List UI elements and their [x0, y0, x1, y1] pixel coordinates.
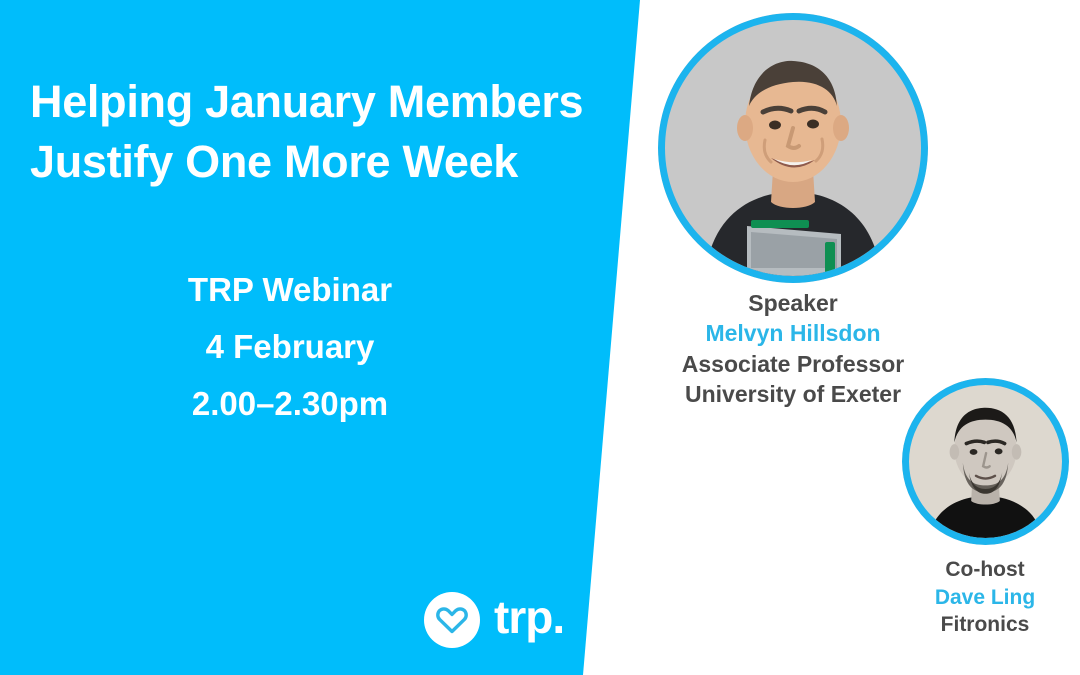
heart-icon [424, 592, 480, 648]
event-details: TRP Webinar 4 February 2.00–2.30pm [0, 262, 580, 432]
event-time: 2.00–2.30pm [0, 376, 580, 433]
event-date: 4 February [0, 319, 580, 376]
trp-logo: trp. [424, 592, 564, 648]
cohost-photo-image [909, 385, 1062, 538]
page-title: Helping January Members Justify One More… [30, 72, 630, 192]
cohost-avatar [902, 378, 1069, 545]
cohost-caption: Co-host Dave Ling Fitronics [885, 556, 1080, 639]
headline-line-2: Justify One More Week [30, 132, 630, 192]
speaker-photo-image [665, 20, 921, 276]
headline-line-1: Helping January Members [30, 72, 630, 132]
speaker-name: Melvyn Hillsdon [628, 318, 958, 348]
cohost-name: Dave Ling [885, 584, 1080, 612]
cohost-role: Co-host [885, 556, 1080, 584]
speaker-avatar [658, 13, 928, 283]
speaker-title: Associate Professor [628, 349, 958, 379]
speaker-role: Speaker [628, 288, 958, 318]
event-name: TRP Webinar [0, 262, 580, 319]
logo-wordmark: trp. [494, 594, 564, 640]
cohost-organisation: Fitronics [885, 611, 1080, 639]
webinar-promo-poster: Helping January Members Justify One More… [0, 0, 1080, 675]
